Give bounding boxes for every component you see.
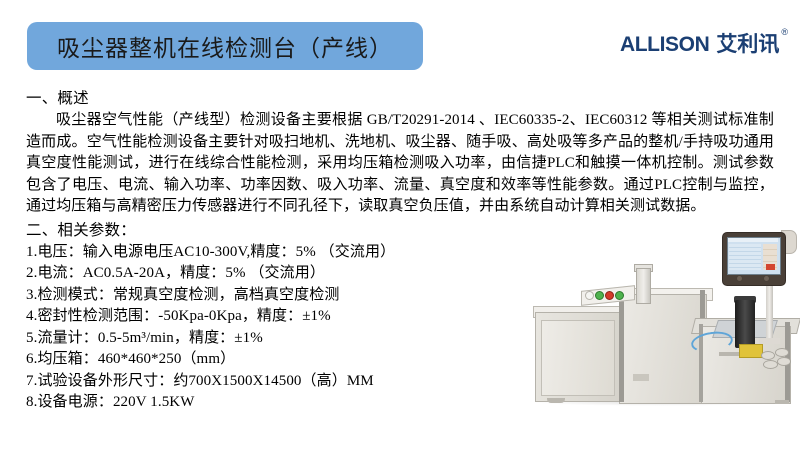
port-hole-icon	[777, 357, 791, 366]
hmi-post	[766, 286, 773, 342]
hmi-post-base	[759, 338, 780, 344]
page-title: 吸尘器整机在线检测台（产线）	[57, 29, 393, 63]
logo-text-en: ALLISON	[620, 34, 709, 55]
frame-post-left	[619, 290, 624, 402]
hmi-button-left[interactable]	[736, 275, 743, 282]
port-hole-icon	[761, 351, 775, 360]
overview-heading: 一、概述	[26, 88, 774, 109]
brand-logo: ALLISON 艾利讯 ®	[620, 34, 788, 55]
hmi-title-bar	[728, 238, 778, 242]
left-cabinet-door	[541, 320, 615, 396]
overview-paragraph: 吸尘器空气性能（产线型）检测设备主要根据 GB/T20291-2014 、IEC…	[26, 110, 774, 218]
indicator-white-icon	[585, 291, 594, 300]
bench-foot	[775, 400, 789, 404]
port-hole-icon	[763, 360, 778, 369]
indicator-green-icon	[595, 291, 604, 300]
start-button-icon	[615, 291, 624, 300]
hmi-alarm-indicator	[766, 264, 775, 270]
equipment-photo	[523, 228, 795, 426]
logo-text-cn: 艾利讯	[716, 34, 779, 55]
hmi-button-right[interactable]	[763, 275, 770, 282]
test-head	[735, 300, 755, 348]
page-title-banner: 吸尘器整机在线检测台（产线）	[27, 22, 423, 70]
emergency-stop-icon	[605, 291, 614, 300]
port-hole-icon	[775, 348, 789, 357]
slide-page: 吸尘器整机在线检测台（产线） ALLISON 艾利讯 ® 一、概述 吸尘器空气性…	[0, 0, 800, 450]
cabinet-foot	[547, 398, 565, 403]
hmi-data-grid	[729, 244, 761, 270]
test-head-base	[739, 344, 763, 358]
cabinet-label	[633, 374, 649, 381]
registered-trademark-icon: ®	[781, 27, 788, 37]
cylinder-rail	[636, 268, 651, 304]
